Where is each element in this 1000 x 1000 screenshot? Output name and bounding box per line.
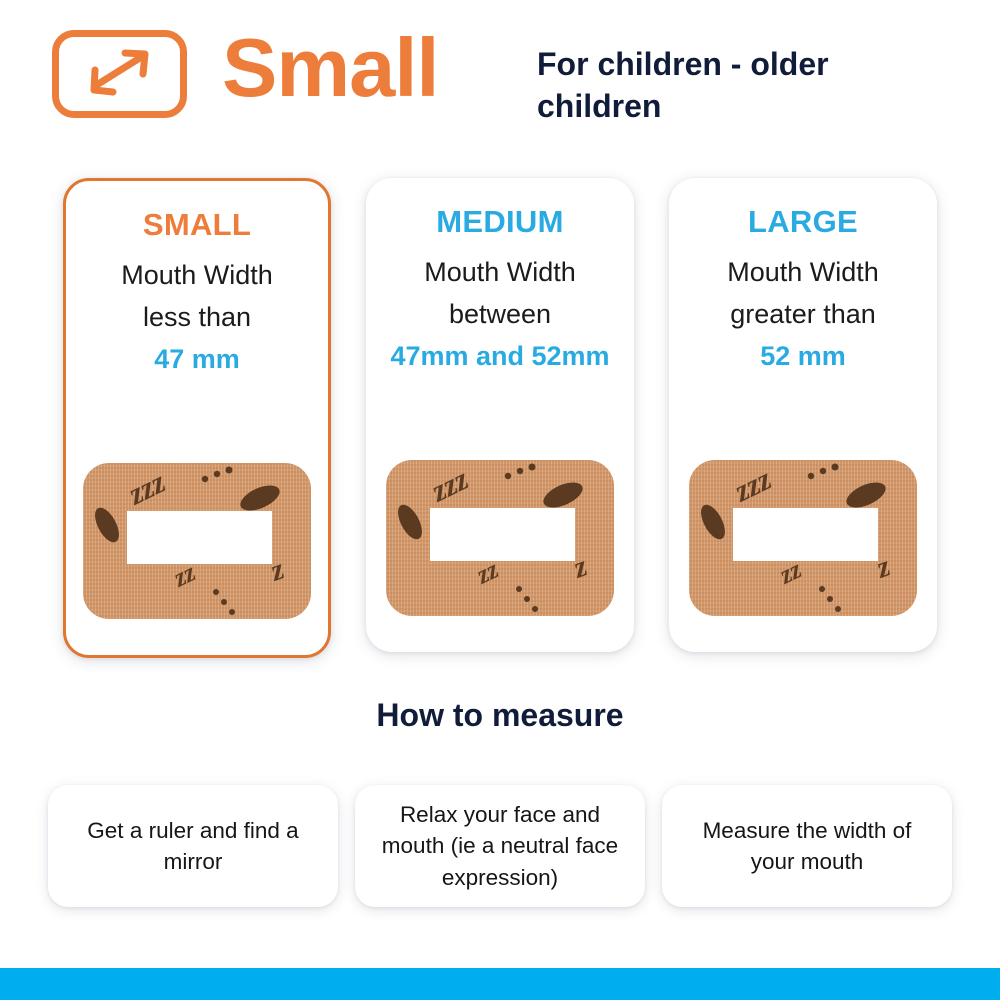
svg-text:zzz: zzz [728, 461, 777, 509]
product-image-large: zzz zz z [669, 460, 937, 616]
step-text-1: Get a ruler and find a mirror [64, 815, 322, 877]
desc-line-2: between [449, 299, 551, 329]
step-card-1: Get a ruler and find a mirror [48, 785, 338, 907]
step-card-2: Relax your face and mouth (ie a neutral … [355, 785, 645, 907]
size-guide-page: Small For children - older children SMAL… [0, 0, 1000, 1000]
mouth-tape-strip: zzz zz z [386, 460, 614, 616]
size-card-medium[interactable]: MEDIUM Mouth Width between 47mm and 52mm [366, 178, 634, 652]
size-card-small[interactable]: SMALL Mouth Width less than 47 mm zzz [63, 178, 331, 658]
mouth-tape-strip: zzz zz z [83, 463, 311, 619]
desc-line-1: Mouth Width [727, 257, 879, 287]
desc-line-1: Mouth Width [424, 257, 576, 287]
desc-line-1: Mouth Width [121, 260, 273, 290]
product-image-small: zzz zz z [66, 463, 328, 619]
size-card-description-large: Mouth Width greater than 52 mm [669, 252, 937, 378]
size-card-title-medium: MEDIUM [366, 204, 634, 240]
step-text-3: Measure the width of your mouth [678, 815, 936, 877]
step-text-2: Relax your face and mouth (ie a neutral … [371, 799, 629, 892]
size-card-value-large: 52 mm [679, 336, 927, 378]
page-header: Small For children - older children [0, 0, 1000, 165]
resize-diagonal-icon [52, 30, 187, 118]
tape-center-window [430, 508, 575, 561]
tape-center-window [127, 511, 272, 564]
svg-text:zzz: zzz [122, 464, 171, 512]
svg-text:zzz: zzz [425, 461, 474, 509]
step-card-3: Measure the width of your mouth [662, 785, 952, 907]
size-card-large[interactable]: LARGE Mouth Width greater than 52 mm zzz [669, 178, 937, 652]
mouth-tape-strip: zzz zz z [689, 460, 917, 616]
size-card-value-small: 47 mm [76, 339, 318, 381]
how-to-measure-heading: How to measure [0, 697, 1000, 734]
footer-accent-bar [0, 968, 1000, 1000]
size-card-value-medium: 47mm and 52mm [376, 336, 624, 378]
header-subtitle: For children - older children [537, 43, 897, 127]
desc-line-2: less than [143, 302, 251, 332]
size-card-title-small: SMALL [66, 207, 328, 243]
size-card-description-medium: Mouth Width between 47mm and 52mm [366, 252, 634, 378]
tape-center-window [733, 508, 878, 561]
page-title: Small [222, 22, 438, 115]
size-card-description-small: Mouth Width less than 47 mm [66, 255, 328, 381]
desc-line-2: greater than [730, 299, 876, 329]
product-image-medium: zzz zz z [366, 460, 634, 616]
size-card-title-large: LARGE [669, 204, 937, 240]
